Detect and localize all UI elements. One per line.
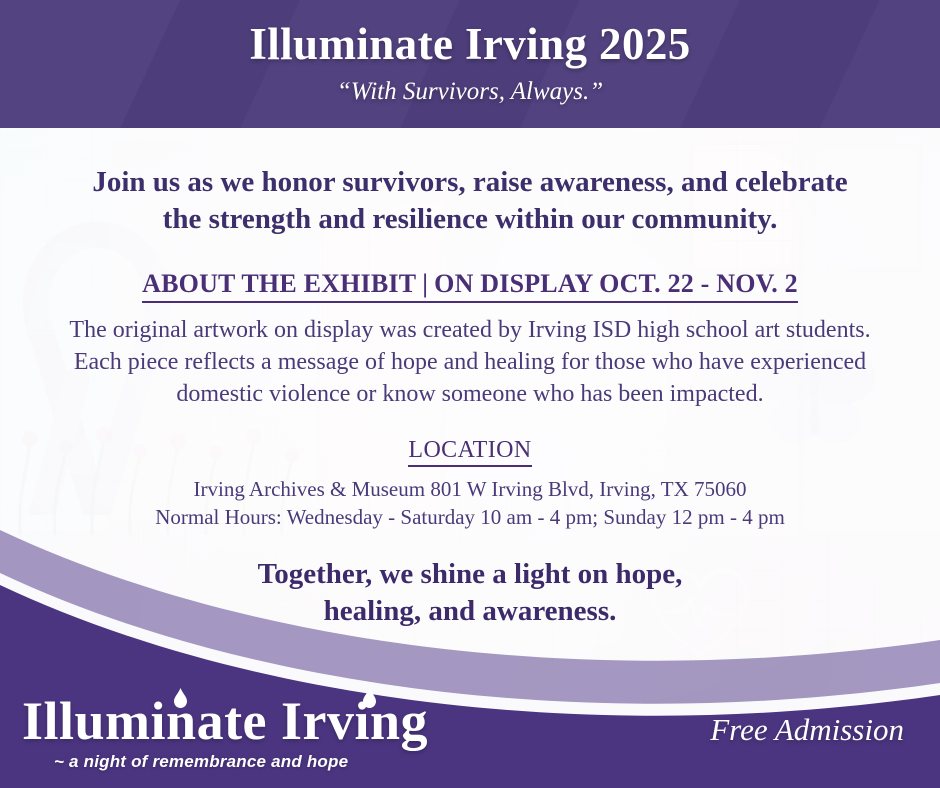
location-heading: LOCATION xyxy=(0,437,940,467)
exhibit-heading-underline: ABOUT THE EXHIBIT|ON DISPLAY OCT. 22 - N… xyxy=(142,269,798,303)
page-title: Illuminate Irving 2025 xyxy=(0,18,940,70)
location-address: Irving Archives & Museum 801 W Irving Bl… xyxy=(0,476,940,504)
exhibit-description-line-2: Each piece reflects a message of hope an… xyxy=(18,347,922,379)
closing-tagline-line-2: healing, and awareness. xyxy=(0,593,940,630)
flame-icon xyxy=(363,688,376,708)
logo-wordmark: Illuminate Irving xyxy=(22,694,442,748)
closing-tagline-line-1: Together, we shine a light on hope, xyxy=(0,556,940,593)
free-admission-label: Free Admission xyxy=(710,712,904,748)
illuminate-irving-logo: Illuminate Irving ~ a night of remembran… xyxy=(22,694,442,772)
closing-tagline: Together, we shine a light on hope, heal… xyxy=(0,556,940,629)
exhibit-heading-right: ON DISPLAY OCT. 22 - NOV. 2 xyxy=(434,269,798,298)
flame-icon xyxy=(174,688,187,708)
intro-line-1: Join us as we honor survivors, raise awa… xyxy=(30,164,910,201)
exhibit-description-line-1: The original artwork on display was crea… xyxy=(18,315,922,347)
intro-line-2: the strength and resilience within our c… xyxy=(30,201,910,238)
main-content: Join us as we honor survivors, raise awa… xyxy=(0,128,940,531)
location-details: Irving Archives & Museum 801 W Irving Bl… xyxy=(0,476,940,531)
location-heading-underline: LOCATION xyxy=(408,437,531,467)
location-hours: Normal Hours: Wednesday - Saturday 10 am… xyxy=(0,504,940,532)
exhibit-description-line-3: domestic violence or know someone who ha… xyxy=(18,379,922,411)
logo-tagline: ~ a night of remembrance and hope xyxy=(54,752,442,772)
exhibit-heading: ABOUT THE EXHIBIT|ON DISPLAY OCT. 22 - N… xyxy=(0,269,940,303)
intro-statement: Join us as we honor survivors, raise awa… xyxy=(0,164,940,237)
exhibit-heading-left: ABOUT THE EXHIBIT xyxy=(142,269,416,298)
poster: Illuminate Irving 2025 “With Survivors, … xyxy=(0,0,940,788)
page-subtitle: “With Survivors, Always.” xyxy=(0,78,940,106)
exhibit-heading-separator: | xyxy=(416,269,434,298)
exhibit-description: The original artwork on display was crea… xyxy=(0,315,940,411)
